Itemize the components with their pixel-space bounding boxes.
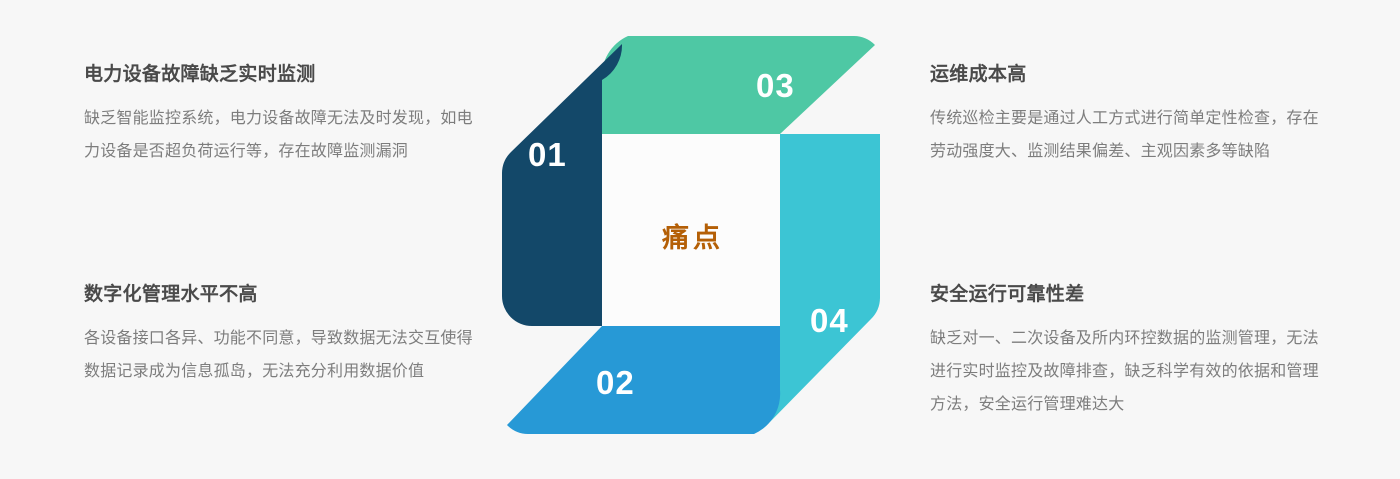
pain-point-block-02: 数字化管理水平不高 各设备接口各异、功能不同意，导致数据无法交互使得数据记录成为… [84, 282, 484, 388]
octagon-segment-04[interactable] [766, 134, 880, 426]
octagon-center-square [602, 134, 780, 326]
octagon-segment-03[interactable] [602, 36, 875, 134]
infographic-stage: 电力设备故障缺乏实时监测 缺乏智能监控系统，电力设备故障无法及时发现，如电力设备… [0, 0, 1400, 479]
octagon-svg: 01 02 03 04 [498, 36, 884, 434]
pain-point-description-02: 各设备接口各异、功能不同意，导致数据无法交互使得数据记录成为信息孤岛，无法充分利… [84, 322, 476, 388]
pain-point-description-01: 缺乏智能监控系统，电力设备故障无法及时发现，如电力设备是否超负荷运行等，存在故障… [84, 102, 476, 168]
octagon-number-04: 04 [810, 302, 849, 339]
pain-point-block-04: 安全运行可靠性差 缺乏对一、二次设备及所内环控数据的监测管理，无法进行实时监控及… [930, 282, 1330, 421]
octagon-diagram: 01 02 03 04 痛点 [498, 36, 884, 434]
pain-point-block-01: 电力设备故障缺乏实时监测 缺乏智能监控系统，电力设备故障无法及时发现，如电力设备… [84, 62, 484, 168]
pain-point-title-01: 电力设备故障缺乏实时监测 [84, 62, 484, 88]
pain-point-title-03: 运维成本高 [930, 62, 1330, 88]
pain-point-block-03: 运维成本高 传统巡检主要是通过人工方式进行简单定性检查，存在劳动强度大、监测结果… [930, 62, 1330, 168]
octagon-segment-02[interactable] [507, 326, 780, 434]
pain-point-description-04: 缺乏对一、二次设备及所内环控数据的监测管理，无法进行实时监控及故障排查，缺乏科学… [930, 322, 1322, 421]
pain-point-title-04: 安全运行可靠性差 [930, 282, 1330, 308]
octagon-number-02: 02 [596, 364, 635, 401]
pain-point-description-03: 传统巡检主要是通过人工方式进行简单定性检查，存在劳动强度大、监测结果偏差、主观因… [930, 102, 1322, 168]
pain-point-title-02: 数字化管理水平不高 [84, 282, 484, 308]
octagon-number-03: 03 [756, 67, 795, 104]
octagon-number-01: 01 [528, 136, 567, 173]
